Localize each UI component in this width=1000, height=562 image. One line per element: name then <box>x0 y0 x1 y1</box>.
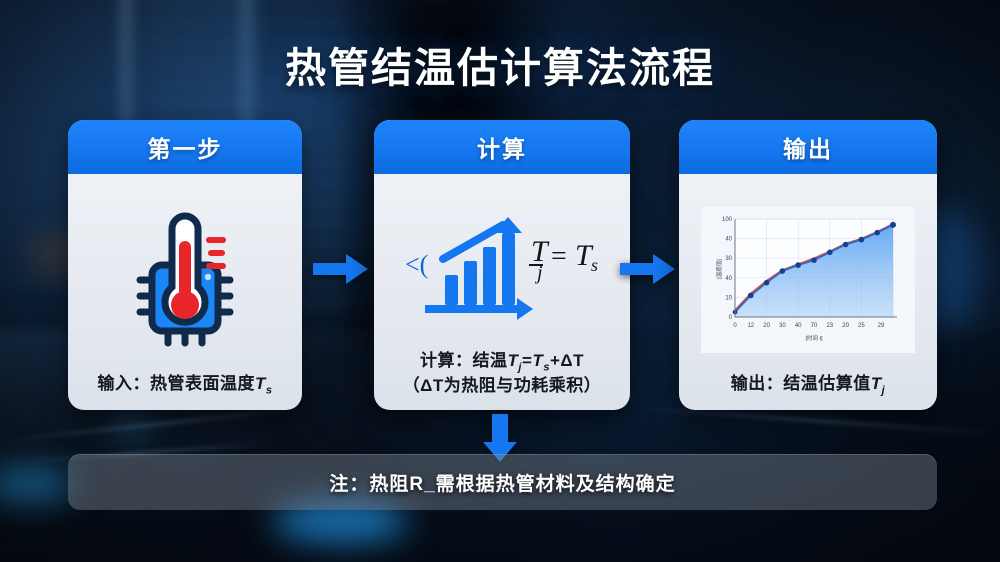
card-header-step1: 第一步 <box>68 120 302 174</box>
svg-text:40: 40 <box>725 276 732 282</box>
arrow-right-icon <box>620 252 676 286</box>
formula-ts-sub: s <box>591 255 598 275</box>
caption-calc-prefix: 计算：结温 <box>420 351 508 370</box>
svg-text:25: 25 <box>858 323 865 329</box>
svg-text:12: 12 <box>747 323 754 329</box>
caption-calc-ts: T <box>532 351 543 370</box>
caption-sub-j: j <box>882 384 886 396</box>
output-chart: 100 40 30 40 10 0 0 12 20 30 <box>701 207 915 353</box>
card-body-output: 100 40 30 40 10 0 0 12 20 30 <box>679 174 937 410</box>
caption-var-tj: T <box>871 374 882 393</box>
card-caption-calc: 计算：结温Tj=Ts+ΔT （ΔT为热阻与功耗乘积） <box>382 350 622 398</box>
svg-text:29: 29 <box>878 323 885 329</box>
card-body-calc: <( T <box>374 174 630 410</box>
card-header-calc: 计算 <box>374 120 630 174</box>
bar-chart-growth-icon: <( T <box>382 184 622 350</box>
line-area-chart-icon: 100 40 30 40 10 0 0 12 20 30 <box>687 184 929 373</box>
card-caption-output: 输出：结温估算值Tj <box>687 373 929 398</box>
caption-text-step1: 输入：热管表面温度 <box>97 374 255 393</box>
svg-text:30: 30 <box>779 323 786 329</box>
arrow-right-icon <box>313 252 369 286</box>
formula-equals: = <box>551 241 567 272</box>
svg-text:30: 30 <box>725 257 732 263</box>
page-title: 热管结温估计算法流程 <box>0 34 1000 94</box>
svg-text:40: 40 <box>795 323 802 329</box>
caption-var-ts: T <box>255 374 266 393</box>
caption-calc-line1: 计算：结温Tj=Ts+ΔT <box>382 350 622 375</box>
svg-text:23: 23 <box>826 323 833 329</box>
step-card-calculate[interactable]: 计算 <( <box>374 120 630 410</box>
caption-calc-delta: +ΔT <box>550 351 584 370</box>
chart-xlabel: [时间 t] <box>805 334 823 342</box>
caption-calc-eq: = <box>522 351 532 370</box>
svg-text:20: 20 <box>842 323 849 329</box>
svg-text:40: 40 <box>725 237 732 243</box>
card-body-step1: 输入：热管表面温度Ts <box>68 174 302 410</box>
step-card-output[interactable]: 输出 <box>679 120 937 410</box>
chart-ylabel: [温度值] <box>715 259 723 279</box>
svg-text:20: 20 <box>763 323 770 329</box>
caption-calc-line2: （ΔT为热阻与功耗乘积） <box>382 375 622 398</box>
thermometer-chip-icon <box>76 184 294 373</box>
svg-text:<(: <( <box>405 250 428 279</box>
card-header-output: 输出 <box>679 120 937 174</box>
caption-calc-ts-sub: s <box>543 361 550 373</box>
caption-text-output: 输出：结温估算值 <box>731 374 871 393</box>
slide-canvas: 热管结温估计算法流程 第一步 <box>0 0 1000 562</box>
card-caption-step1: 输入：热管表面温度Ts <box>76 373 294 398</box>
footer-note: 注：热阻R_需根据热管材料及结构确定 <box>68 454 937 510</box>
svg-text:10: 10 <box>725 296 732 302</box>
caption-sub-s: s <box>266 384 273 396</box>
caption-calc-tj: T <box>508 351 519 370</box>
svg-text:70: 70 <box>811 323 818 329</box>
step-card-input[interactable]: 第一步 <box>68 120 302 410</box>
svg-text:100: 100 <box>722 217 733 223</box>
